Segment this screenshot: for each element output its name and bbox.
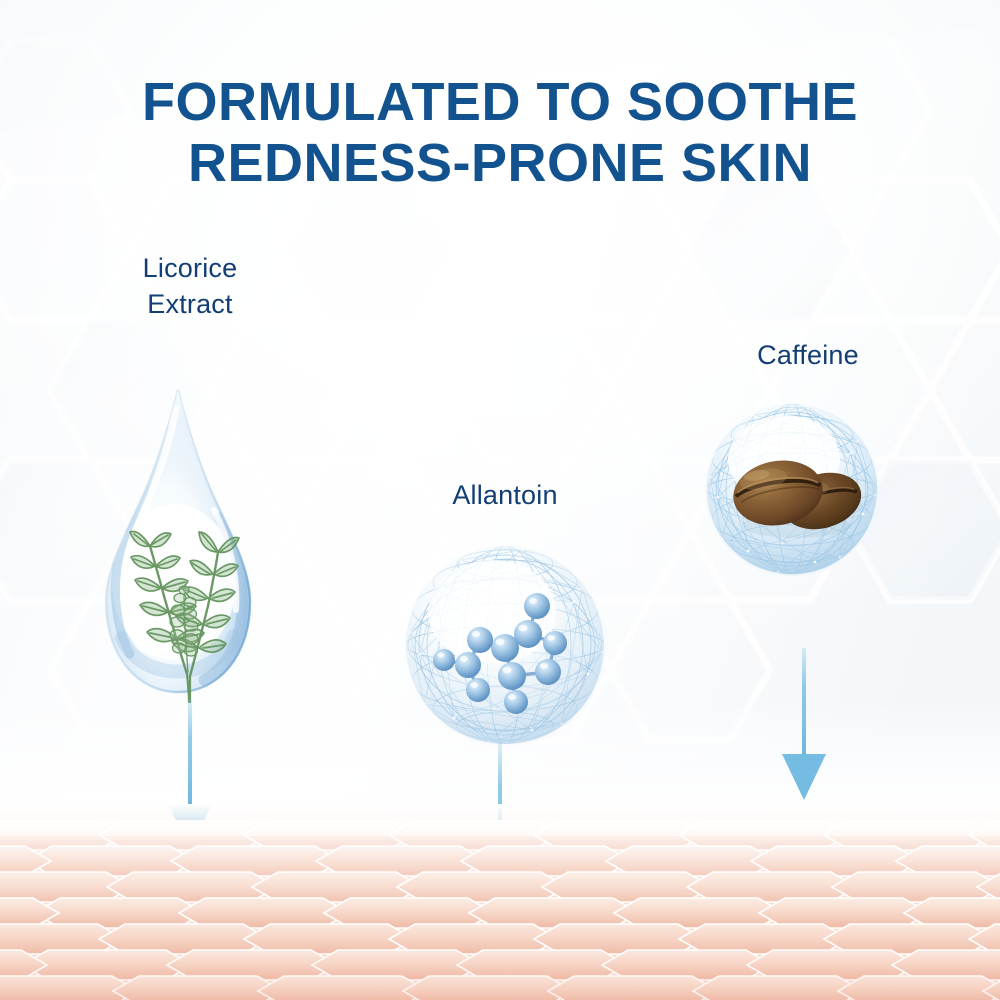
- ingredient-infographic: FORMULATED TO SOOTHE REDNESS-PRONE SKIN …: [0, 0, 1000, 1000]
- ingredient-label-caffeine: Caffeine: [708, 337, 908, 373]
- water-droplet-licorice: [92, 386, 264, 708]
- ingredient-label-licorice: Licorice Extract: [90, 250, 290, 323]
- sphere-caffeine: [704, 401, 880, 577]
- ingredient-label-allantoin: Allantoin: [405, 477, 605, 513]
- sphere-allantoin: [402, 542, 608, 748]
- skin-layer: [0, 820, 1000, 1000]
- page-title: FORMULATED TO SOOTHE REDNESS-PRONE SKIN: [0, 72, 1000, 193]
- arrow-down-caffeine: [774, 648, 834, 800]
